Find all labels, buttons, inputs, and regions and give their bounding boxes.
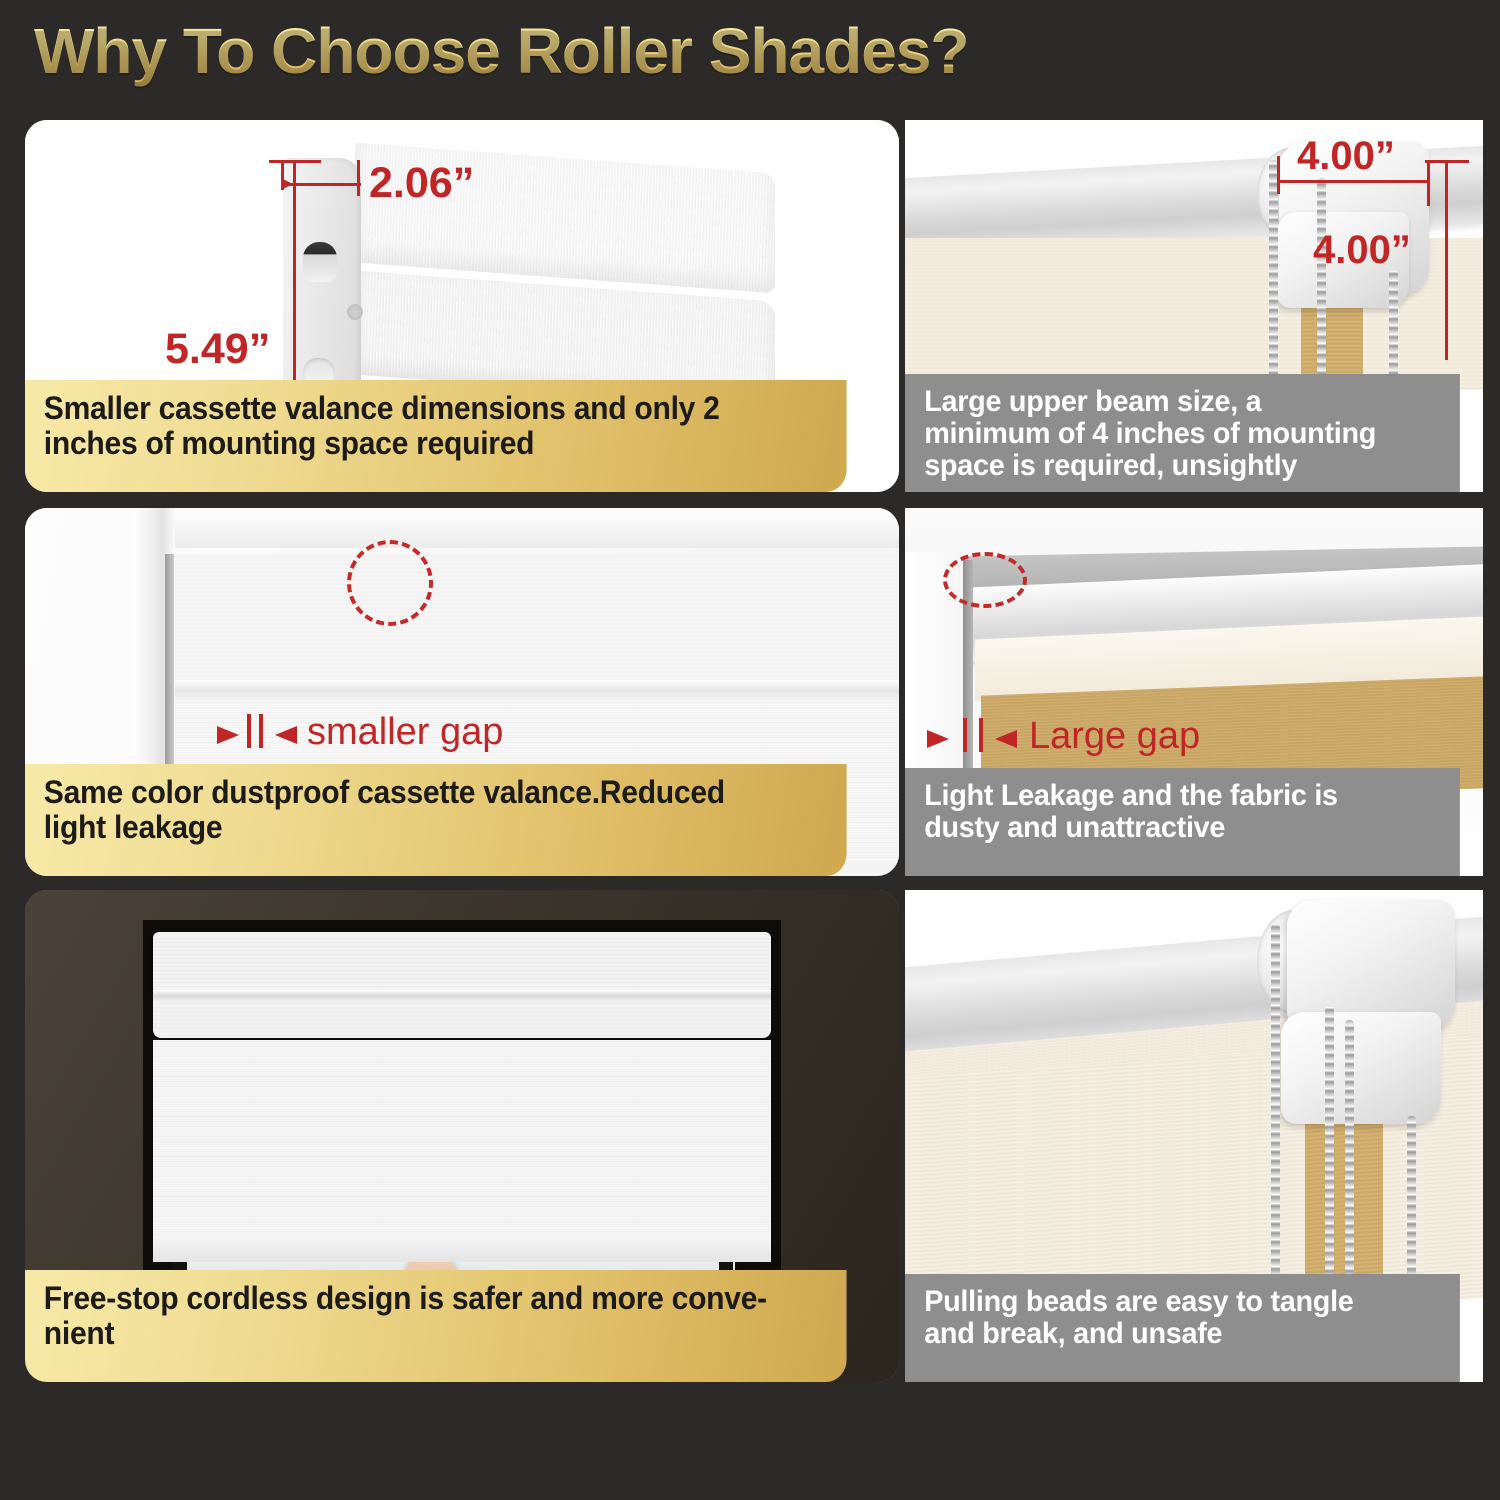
panel-large-upper-beam: 4.00” 4.00” Large upper beam size, a min… bbox=[905, 120, 1483, 492]
caption-line: Pulling beads are easy to tangle bbox=[924, 1286, 1442, 1317]
highlight-circle-icon bbox=[943, 552, 1027, 608]
shade-fabric bbox=[153, 1040, 771, 1236]
width-dim-tick-right bbox=[357, 160, 360, 196]
gap-arrow-left-icon bbox=[275, 726, 297, 744]
caption-line: dusty and unattractive bbox=[924, 812, 1442, 843]
width-dim-arrow bbox=[281, 178, 293, 190]
shade-upper-panel bbox=[175, 554, 899, 680]
gap-tick-b bbox=[979, 718, 983, 752]
beam-height-line bbox=[1445, 160, 1448, 360]
screw-icon bbox=[347, 304, 363, 320]
valance-rail bbox=[153, 990, 771, 1002]
beam-width-tick-left bbox=[1277, 156, 1280, 194]
caption-line: and break, and unsafe bbox=[924, 1318, 1442, 1349]
beam-width-tick-right bbox=[1427, 162, 1430, 206]
caption-line: nient bbox=[44, 1317, 830, 1350]
beam-height-tick-top bbox=[1425, 160, 1469, 163]
panel-cordless-design: Free-stop cordless design is safer and m… bbox=[25, 890, 899, 1382]
shade-middle-rail bbox=[175, 680, 899, 702]
valance-lower bbox=[153, 1002, 771, 1038]
panel-5-caption: Free-stop cordless design is safer and m… bbox=[25, 1270, 847, 1382]
panel-1-caption: Smaller cassette valance dimensions and … bbox=[25, 380, 847, 492]
panel-smaller-gap: smaller gap Same color dustproof cassett… bbox=[25, 508, 899, 876]
beam-width-label: 4.00” bbox=[1297, 134, 1395, 179]
large-gap-label: Large gap bbox=[1029, 715, 1200, 758]
comparison-grid: 2.06” 5.49” Smaller cassette valance dim… bbox=[0, 0, 1500, 1500]
beam-height-label: 4.00” bbox=[1313, 228, 1411, 273]
caption-line: Free-stop cordless design is safer and m… bbox=[44, 1282, 830, 1315]
width-dimension-label: 2.06” bbox=[369, 159, 474, 208]
shade-bottom-hem bbox=[153, 1236, 771, 1262]
cassette-valance bbox=[153, 932, 771, 994]
bead-chain-mid bbox=[1317, 178, 1326, 398]
panel-3-caption: Same color dustproof cassette valance.Re… bbox=[25, 764, 847, 876]
gap-arrow-right-icon bbox=[927, 730, 949, 748]
smaller-gap-label: smaller gap bbox=[307, 711, 503, 754]
caption-line: light leakage bbox=[44, 811, 830, 844]
gap-arrow-right-icon bbox=[217, 726, 239, 744]
panel-pulling-beads: Pulling beads are easy to tangle and bre… bbox=[905, 890, 1483, 1382]
gap-tick-a bbox=[963, 718, 967, 752]
mounting-bracket-lower bbox=[1281, 1012, 1441, 1124]
caption-line: space is required, unsightly bbox=[924, 450, 1442, 481]
height-dim-tick-top bbox=[269, 160, 321, 163]
highlight-circle-icon bbox=[347, 540, 433, 626]
caption-line: Same color dustproof cassette valance.Re… bbox=[44, 776, 830, 809]
gap-tick-a bbox=[247, 714, 251, 748]
panel-2-caption: Large upper beam size, a minimum of 4 in… bbox=[905, 374, 1460, 492]
window-head-casing bbox=[133, 508, 899, 548]
panel-large-gap: Large gap Light Leakage and the fabric i… bbox=[905, 508, 1483, 876]
bead-chain-front bbox=[1269, 160, 1278, 398]
gap-tick-b bbox=[259, 714, 263, 748]
caption-line: inches of mounting space required bbox=[44, 427, 830, 460]
caption-line: Smaller cassette valance dimensions and … bbox=[44, 392, 830, 425]
caption-line: Large upper beam size, a bbox=[924, 386, 1442, 417]
panel-4-caption: Light Leakage and the fabric is dusty an… bbox=[905, 768, 1460, 876]
gap-arrow-left-icon bbox=[995, 730, 1017, 748]
mounting-bracket-upper bbox=[1287, 900, 1455, 1030]
panel-smaller-cassette: 2.06” 5.49” Smaller cassette valance dim… bbox=[25, 120, 899, 492]
caption-line: minimum of 4 inches of mounting bbox=[924, 418, 1442, 449]
beam-width-line bbox=[1277, 180, 1429, 183]
height-dimension-label: 5.49” bbox=[165, 325, 270, 374]
caption-line: Light Leakage and the fabric is bbox=[924, 780, 1442, 811]
clutch-knob bbox=[303, 242, 337, 282]
panel-6-caption: Pulling beads are easy to tangle and bre… bbox=[905, 1274, 1460, 1382]
